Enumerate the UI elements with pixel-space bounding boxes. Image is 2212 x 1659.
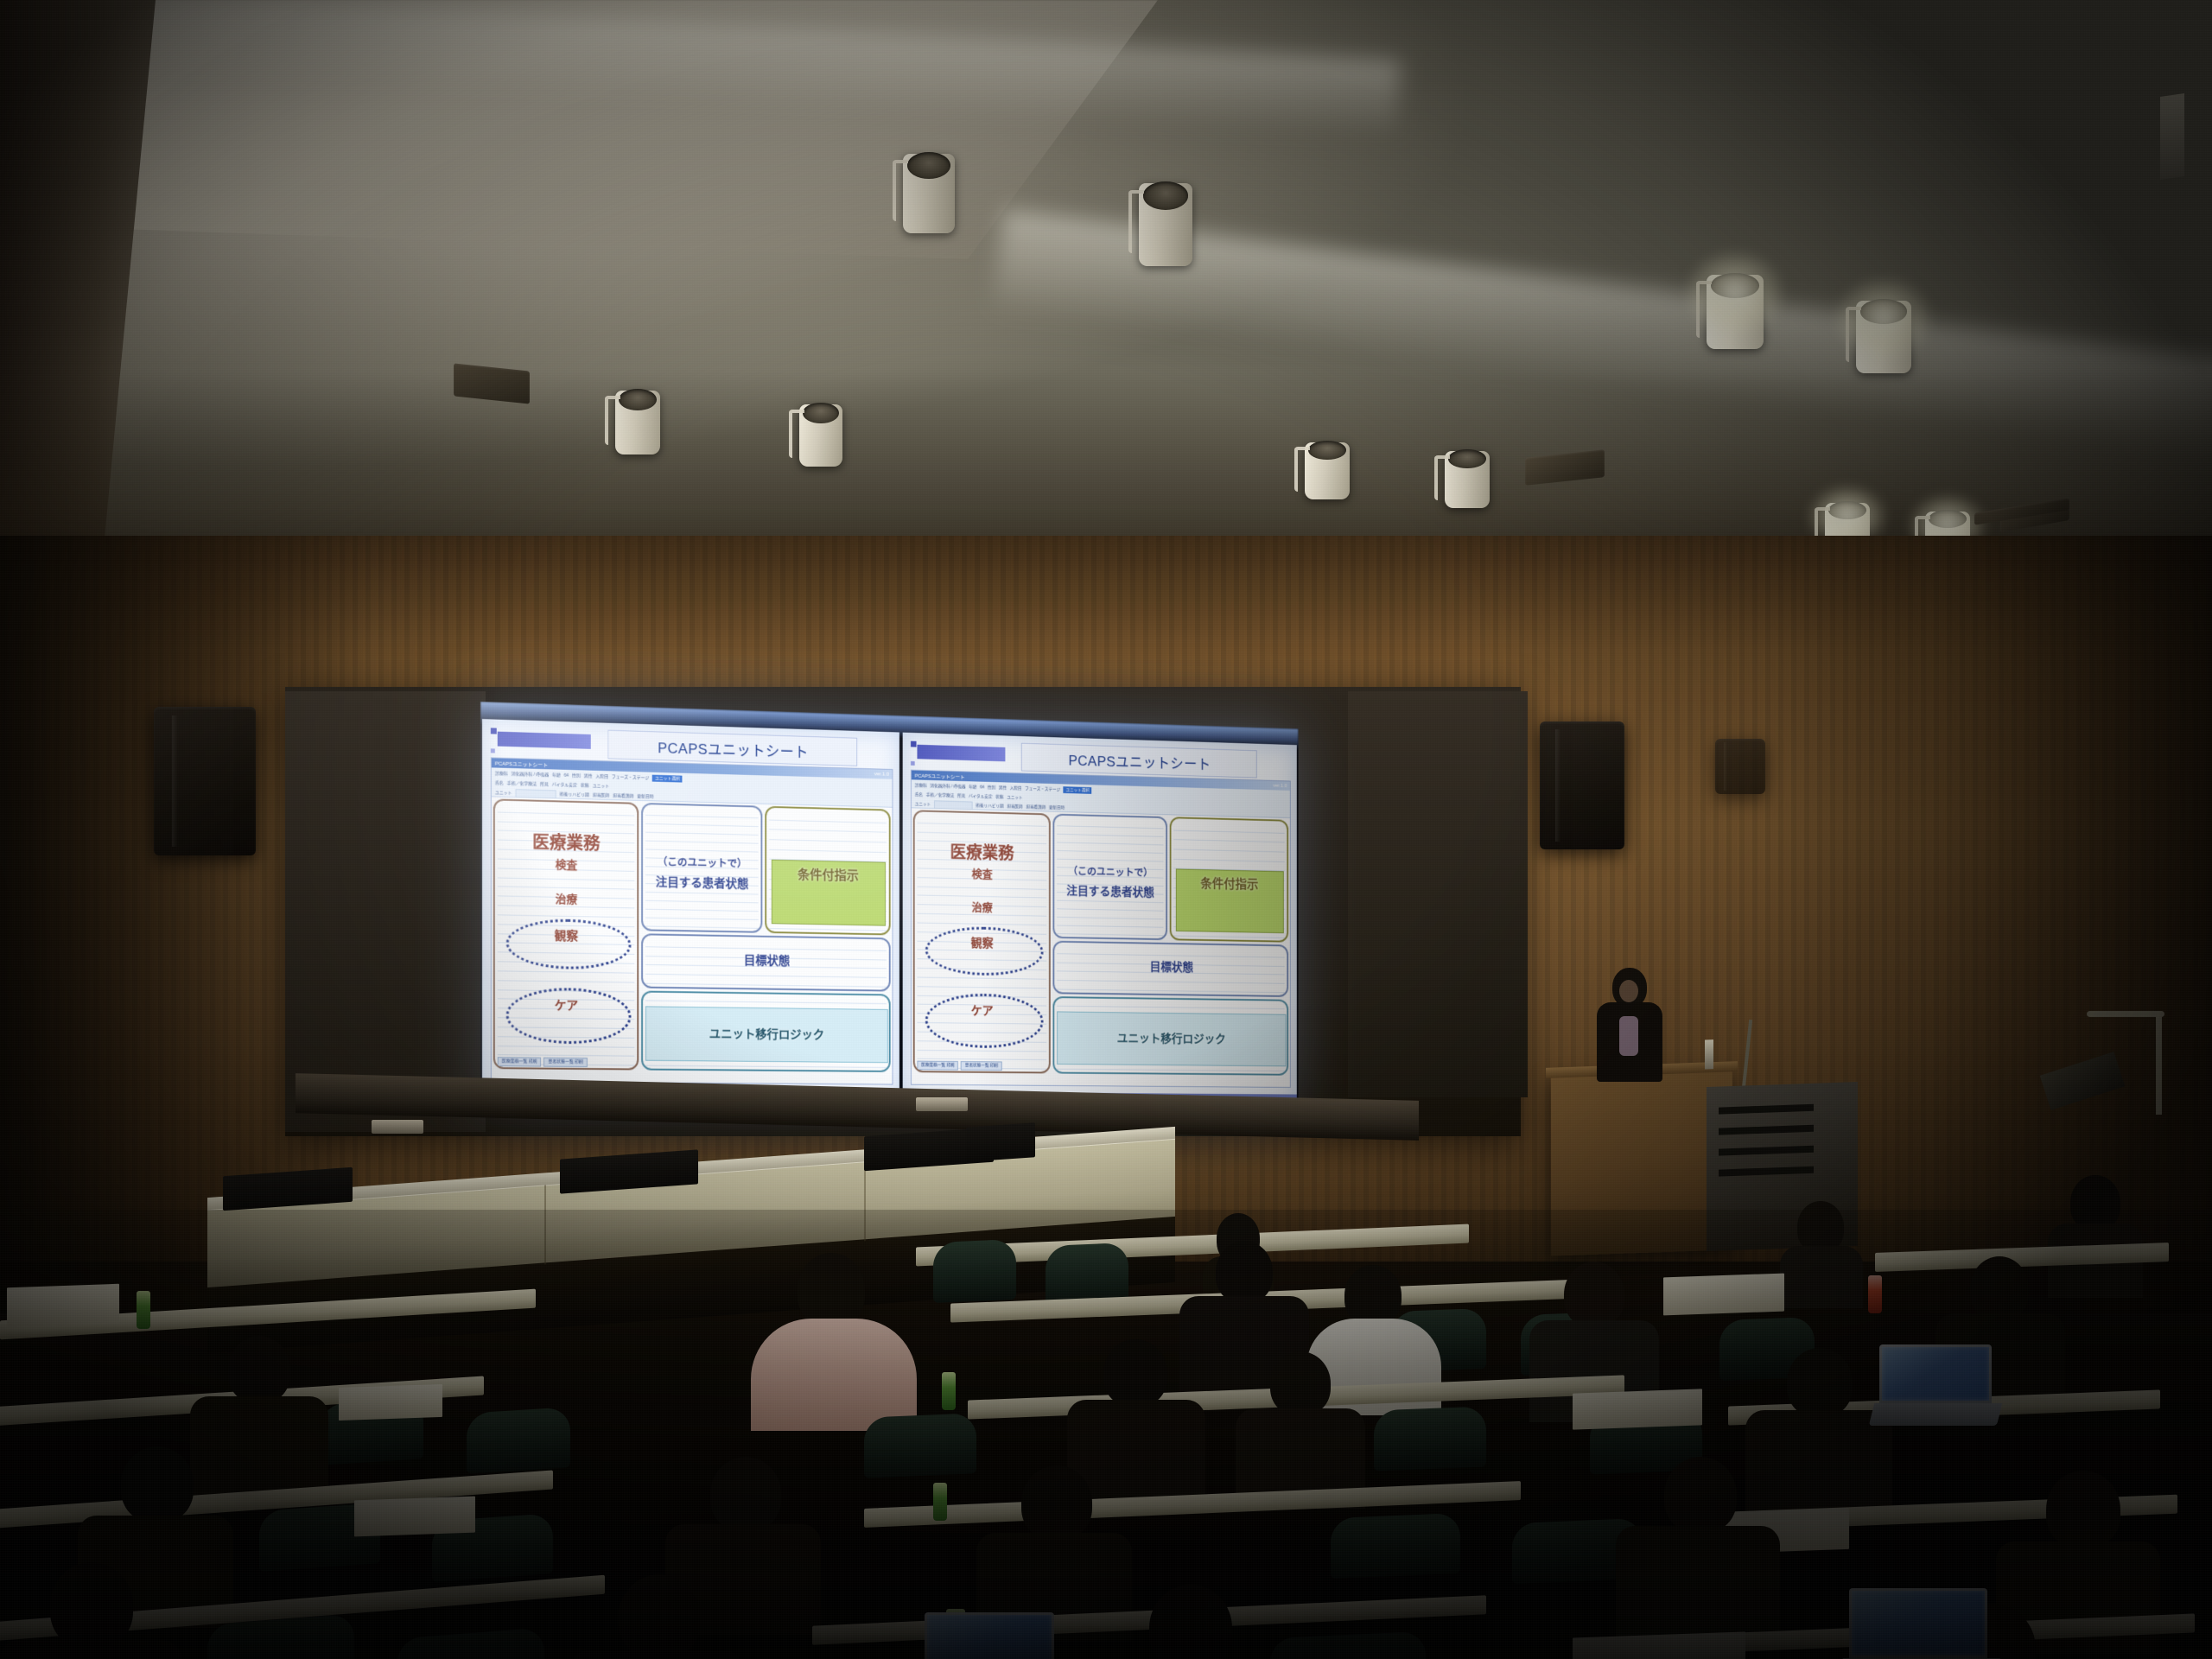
toolbar-label: 性別 (572, 772, 581, 779)
seat (864, 1413, 976, 1478)
slide-title: PCAPSユニットシート (607, 730, 857, 766)
screen-side-panel-right (1348, 691, 1528, 1097)
wall-speaker-left (154, 707, 256, 855)
projected-slide-left: PCAPSユニットシート PCAPSユニットシート ver.1.0 診療科 消化… (482, 719, 899, 1110)
print-patient-state-button[interactable]: 患者状態一覧 印刷 (543, 1058, 587, 1067)
toolbar-label: 性別 (988, 785, 995, 791)
water-bottle (1868, 1275, 1882, 1313)
conditional-orders-fill (1176, 869, 1284, 933)
handout-paper (1663, 1274, 1784, 1316)
laptop[interactable] (1879, 1344, 1992, 1426)
seat (1374, 1407, 1486, 1471)
toolbar-value: バイタル安定 (552, 781, 577, 789)
toolbar-value: 消化器外科 / 呼吸器 (512, 771, 549, 779)
application-window: PCAPSユニットシート ver.1.0 診療科 消化器外科 / 呼吸器 年齢 … (911, 770, 1291, 1088)
audience-member (570, 1574, 743, 1659)
handout-paper (339, 1384, 442, 1421)
toolbar-label: 担当看護師 (613, 792, 633, 800)
spotlight-icon (799, 404, 842, 467)
slide-header-bar (498, 732, 591, 749)
toolbar-highlight[interactable]: ユニット選択 (652, 775, 683, 783)
handout-paper (1573, 1389, 1702, 1429)
water-bottle (933, 1483, 947, 1521)
slide-title: PCAPSユニットシート (1021, 743, 1257, 779)
toolbar-label: 担当医師 (593, 792, 609, 799)
camera-rig (2035, 1011, 2199, 1115)
panel-conditional-orders: 条件付指示 (1170, 817, 1288, 943)
audience-member (1097, 1585, 1279, 1659)
audience-area (0, 1210, 2212, 1659)
toolbar-value: ユニット (593, 783, 609, 790)
seat (933, 1239, 1016, 1303)
desk-monitor (966, 1122, 1035, 1162)
laptop-base (1869, 1403, 2003, 1426)
toolbar-label: 年齢 (552, 772, 561, 779)
slide-marker-icon (491, 728, 497, 734)
panel-patient-state: （このユニットで） 注目する患者状態 (1053, 814, 1168, 941)
presenter (1590, 968, 1668, 1080)
screen-foot (372, 1120, 423, 1134)
audience-member (1780, 1201, 1863, 1305)
window-title-text: PCAPSユニットシート (495, 759, 548, 768)
seat (467, 1407, 570, 1474)
toolbar-label: 担当看護師 (1026, 804, 1046, 810)
toolbar-label: 担当医師 (1007, 804, 1022, 810)
laptop-screen (1882, 1347, 1989, 1401)
water-bottle (137, 1291, 150, 1329)
toolbar-value: 手術／化学療法 (507, 780, 537, 788)
panel-medical-tasks: 医療業務 検査 治療 観察 ケア 医療業務一覧 印刷 患者状態一覧 印刷 (493, 798, 639, 1070)
panel-target-state: 目標状態 (1053, 941, 1289, 997)
toolbar-label: 更新日時 (1049, 804, 1065, 811)
slide-marker-icon (491, 748, 495, 753)
panel-transition-logic: ユニット移行ロジック (641, 990, 890, 1072)
seat (1331, 1513, 1460, 1579)
application-window: PCAPSユニットシート ver.1.0 診療科 消化器外科 / 呼吸器 年齢 … (491, 757, 893, 1084)
highlight-oval-care (925, 993, 1043, 1048)
audience-member (747, 1253, 920, 1426)
highlight-oval-care (506, 988, 631, 1045)
window-version-text: ver.1.0 (874, 772, 889, 777)
toolbar-value: 手術／化学療法 (926, 791, 955, 799)
toolbar-value: 男性 (999, 785, 1007, 791)
transition-logic-fill (645, 1006, 888, 1063)
audience-member (0, 1562, 181, 1659)
spotlight-icon (1856, 301, 1911, 373)
lecture-hall-photo: PCAPSユニットシート PCAPSユニットシート ver.1.0 診療科 消化… (0, 0, 2212, 1659)
toolbar-label: フェーズ・ステージ (1025, 785, 1060, 793)
slide-header-bar (917, 745, 1005, 762)
print-medical-tasks-button[interactable]: 医療業務一覧 印刷 (498, 1057, 542, 1066)
laptop-screen (1852, 1591, 1985, 1656)
print-medical-tasks-button[interactable]: 医療業務一覧 印刷 (917, 1061, 958, 1071)
projected-slide-right: PCAPSユニットシート PCAPSユニットシート ver.1.0 診療科 消化… (903, 733, 1297, 1113)
projection-screen: PCAPSユニットシート PCAPSユニットシート ver.1.0 診療科 消化… (480, 702, 1299, 1112)
toolbar-label: ユニット (915, 801, 931, 808)
spotlight-icon (615, 391, 660, 454)
handout-paper (7, 1284, 119, 1328)
handout-paper (354, 1497, 475, 1537)
seat (397, 1627, 544, 1659)
spotlight-icon (1445, 451, 1490, 508)
audience-member (1236, 1351, 1365, 1498)
toolbar-label: 氏名 (495, 779, 504, 786)
conditional-orders-fill (772, 860, 886, 925)
panel-transition-logic: ユニット移行ロジック (1053, 996, 1289, 1076)
spotlight-icon (903, 154, 955, 233)
laptop-lid (1879, 1344, 1992, 1403)
toolbar-highlight[interactable]: ユニット選択 (1064, 786, 1092, 794)
window-title-text: PCAPSユニットシート (915, 772, 965, 780)
window-version-text: ver.1.0 (1273, 783, 1287, 788)
toolbar-value: 64 (980, 784, 984, 791)
toolbar-value: 消化器外科 / 呼吸器 (930, 783, 965, 791)
toolbar-label: 年齢 (969, 784, 976, 791)
toolbar-value: 64 (564, 772, 569, 779)
transition-logic-fill (1057, 1011, 1286, 1066)
wall-banner (2160, 93, 2184, 180)
toolbar-value: バイタル安定 (969, 793, 993, 800)
handout-paper (1573, 1632, 1745, 1659)
toolbar-label: 診療科 (915, 782, 927, 789)
toolbar-field[interactable] (516, 789, 556, 798)
laptop[interactable] (1849, 1588, 1987, 1659)
toolbar-field[interactable] (934, 800, 973, 810)
slide-marker-icon (911, 741, 917, 747)
seat (1270, 1631, 1426, 1659)
toolbar-label: 入院日 (1010, 785, 1022, 791)
toolbar-value: 男性 (584, 772, 593, 779)
panel-medical-tasks: 医療業務 検査 治療 観察 ケア 医療業務一覧 印刷 患者状態一覧 印刷 (913, 810, 1051, 1073)
toolbar-label: 入院日 (595, 773, 608, 780)
spotlight-icon (1707, 275, 1764, 349)
print-patient-state-button[interactable]: 患者状態一覧 印刷 (961, 1061, 1001, 1071)
panel-target-state: 目標状態 (641, 934, 890, 992)
toolbar-label: 更新日時 (637, 793, 653, 800)
toolbar-label: 状態 (995, 794, 1003, 801)
panel-conditional-orders: 条件付指示 (766, 806, 891, 936)
audience-member (1616, 1457, 1780, 1630)
laptop-lid (925, 1612, 1054, 1659)
toolbar-label: 所見 (957, 792, 965, 799)
water-bottle (942, 1372, 956, 1410)
screen-foot (916, 1097, 968, 1111)
toolbar-value: 術後リハビリ期 (976, 803, 1003, 810)
spotlight-icon (1305, 442, 1350, 499)
toolbar-value: ユニット (1007, 794, 1022, 801)
toolbar-label: 所見 (540, 781, 549, 788)
toolbar-label: 状態 (581, 782, 589, 789)
laptop-lid (1849, 1588, 1987, 1658)
toolbar-label: 氏名 (915, 791, 923, 798)
spotlight-icon (1139, 183, 1192, 266)
wall-speaker-right (1540, 721, 1624, 849)
toolbar-value: 術後リハビリ期 (560, 791, 589, 798)
presenter-scarf (1619, 1016, 1638, 1056)
toolbar-label: 診療科 (495, 770, 508, 777)
presenter-face (1619, 980, 1638, 1002)
wall-panel-right (1715, 739, 1765, 794)
screen-side-panel-left (285, 691, 486, 1132)
slide-marker-icon (911, 761, 915, 766)
panel-patient-state: （このユニットで） 注目する患者状態 (641, 803, 763, 933)
laptop[interactable] (925, 1612, 1054, 1659)
toolbar-label: フェーズ・ステージ (612, 773, 649, 781)
toolbar-label: ユニット (495, 789, 512, 797)
laptop-screen (927, 1615, 1052, 1659)
